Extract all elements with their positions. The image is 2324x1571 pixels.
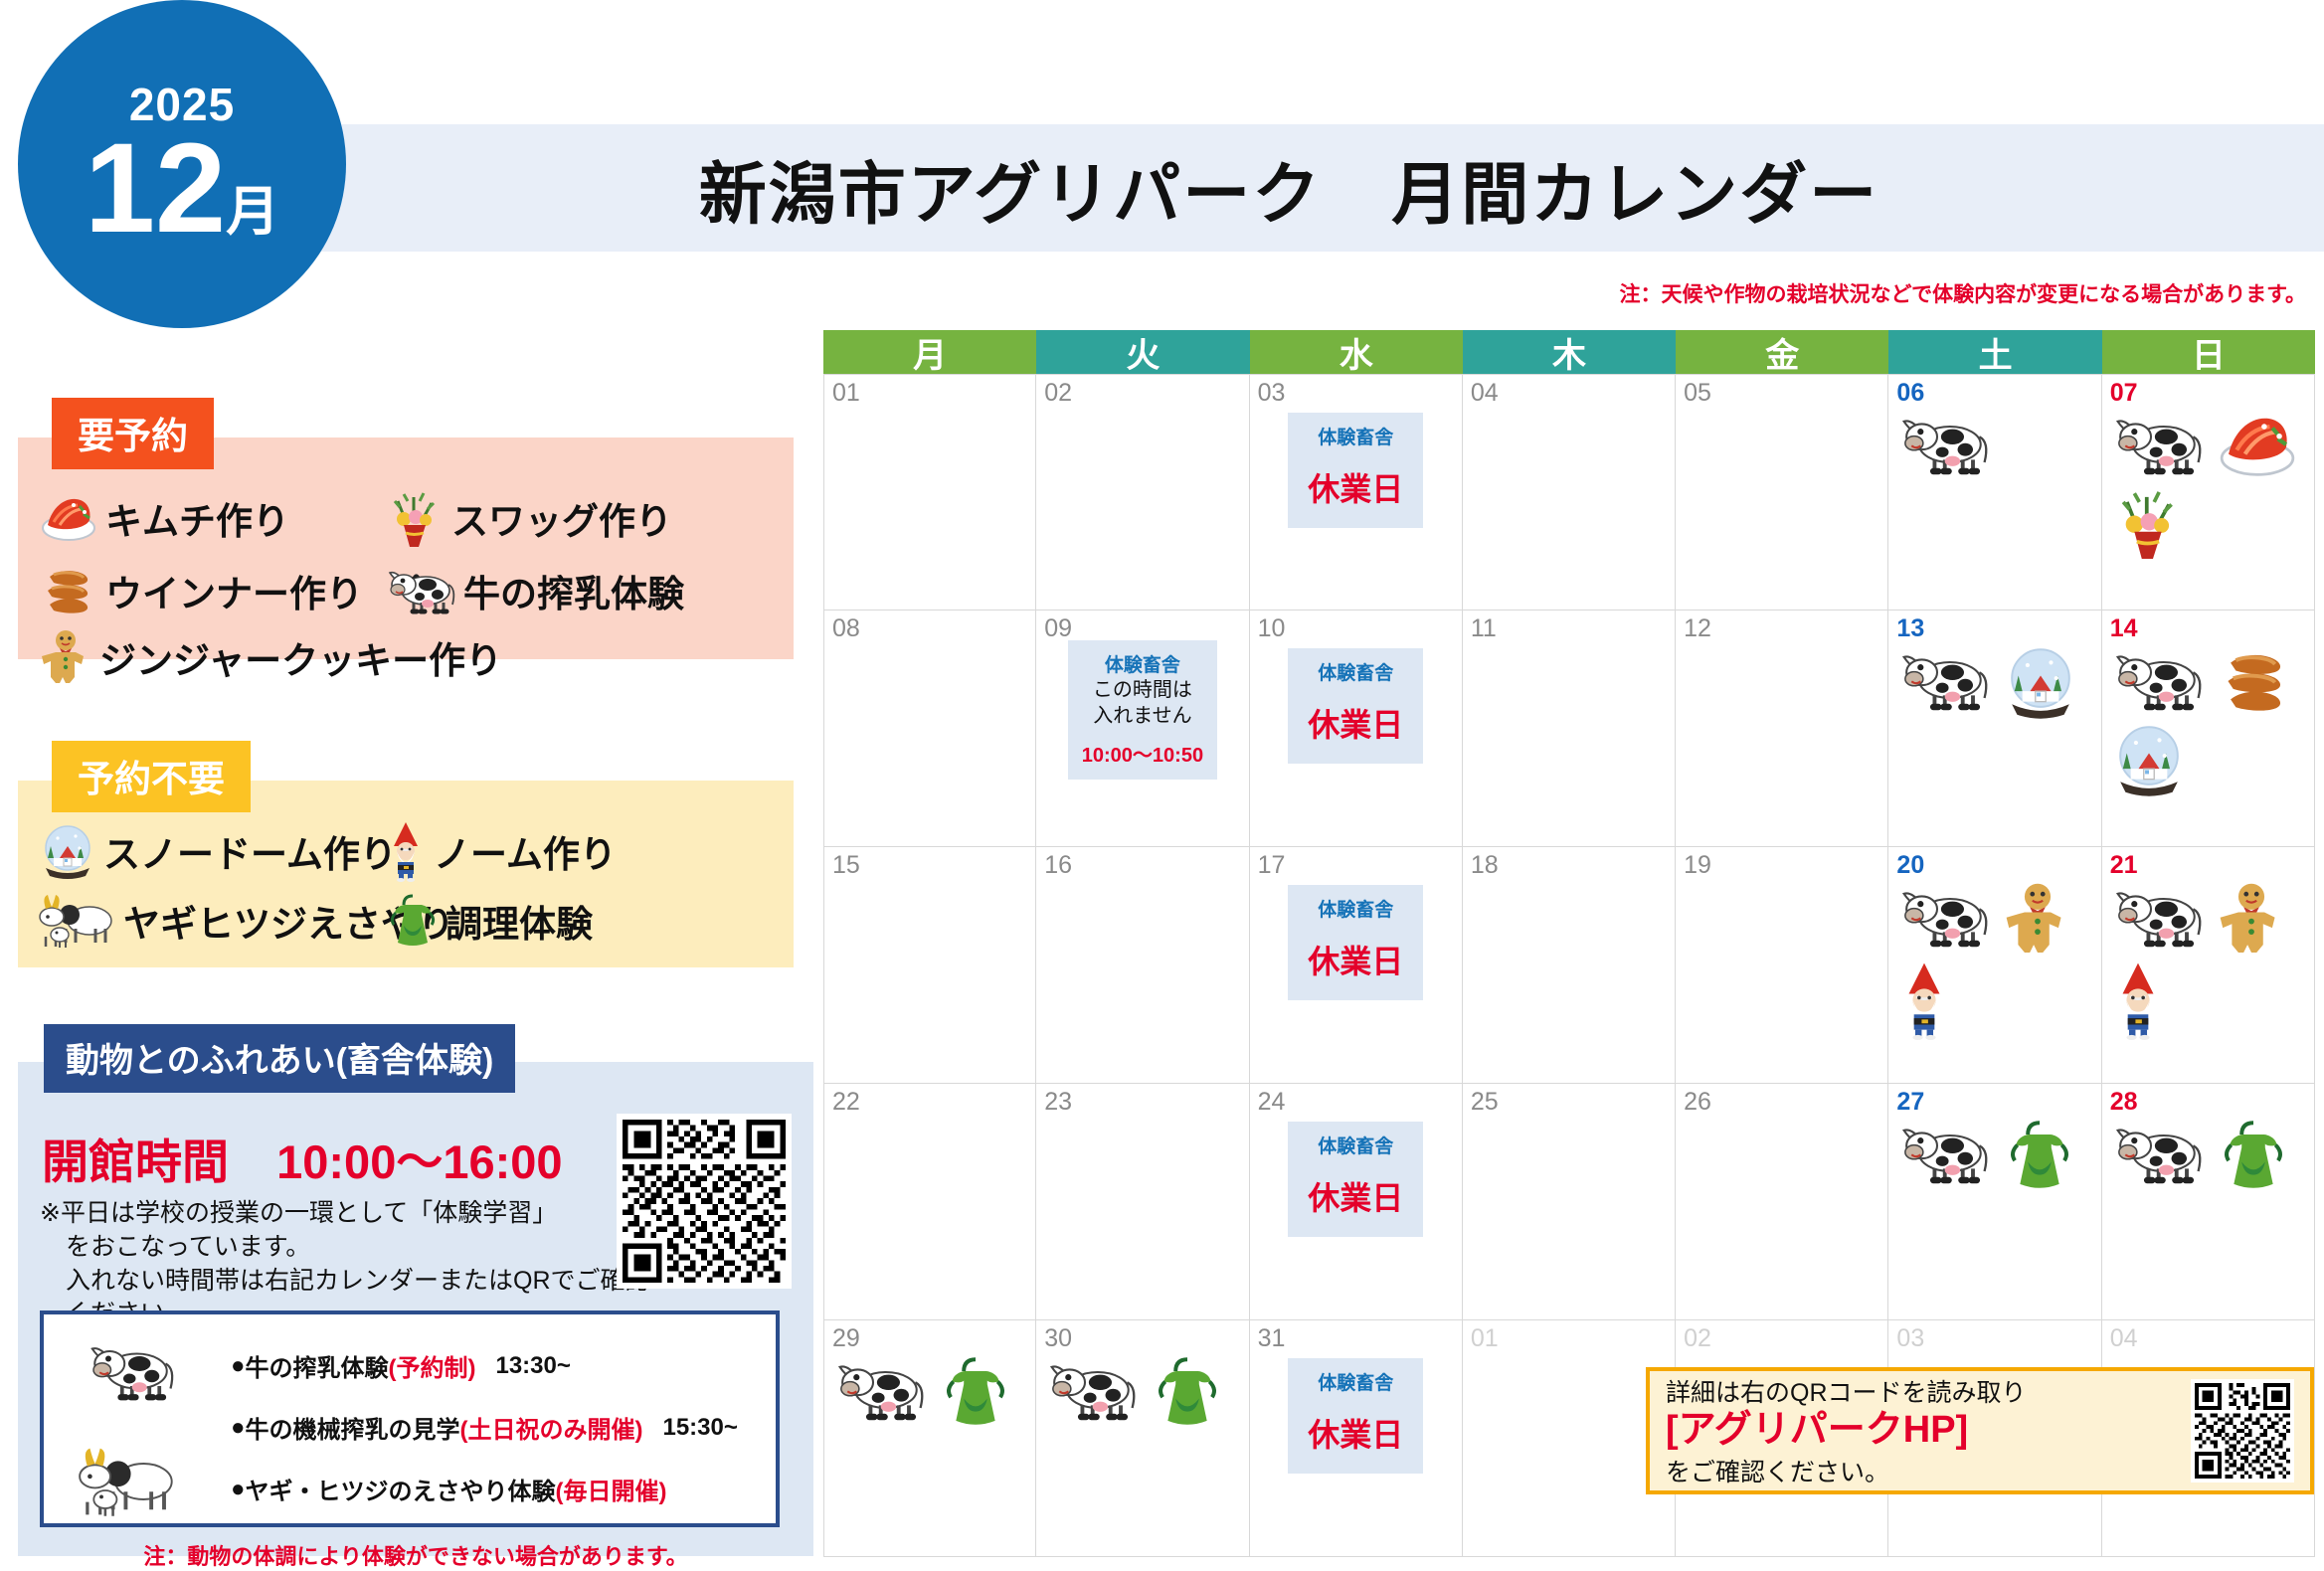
calendar-day-cell[interactable]: 29 [823,1320,1036,1557]
animal-condition-note: 注：動物の体調により体験ができない場合があります。 [18,1539,813,1571]
legend-reservation-required: 要予約 キムチ作り スワッグ作り ウインナー作り [18,398,794,659]
day-activity-icons [2112,881,2315,1040]
legend-no-reservation: 予約不要 スノードーム作り ノーム作り ヤギヒツジえさやり [18,741,794,967]
day-number: 18 [1471,851,1499,880]
animal-activity-card: ● 牛の搾乳体験 (予約制) 13:30~ ● 牛の機械搾乳の見学 (土日祝のみ… [40,1310,780,1527]
time-restriction-badge: 体験畜舎この時間は入れません10:00〜10:50 [1068,640,1217,780]
gingerbread-icon [2004,881,2071,957]
detail-tag: (毎日開催) [556,1472,667,1506]
animal-section-tab: 動物とのふれあい(畜舎体験) [44,1024,515,1093]
day-number: 21 [2110,851,2138,880]
closure-facility-label: 体験畜舎 [1288,427,1423,450]
closure-status-label: 休業日 [1288,937,1423,982]
sausage-icon [40,563,97,618]
calendar-day-cell[interactable]: 01 [823,374,1036,611]
calendar-day-cell[interactable]: 08 [823,611,1036,847]
kimchi-icon [2218,409,2297,480]
detail-row-feeding: ● ヤギ・ヒツジのえさやり体験 (毎日開催) [231,1472,666,1506]
day-activity-icons [1898,881,2101,1040]
calendar-weekday-header: 木 [1463,330,1676,374]
detail-label: ヤギ・ヒツジのえさやり体験 [246,1472,556,1506]
day-number: 17 [1258,851,1286,880]
legend-item-label: 牛の搾乳体験 [463,564,684,617]
calendar-day-cell[interactable]: 21 [2102,847,2315,1084]
calendar-weekday-header: 水 [1250,330,1463,374]
calendar-header-row: 月火水木金土日 [823,330,2315,374]
gingerbread-icon [40,628,91,686]
legend-item-label: ジンジャークッキー作り [99,630,502,684]
cow-icon [1898,644,1994,716]
day-number: 31 [1258,1324,1286,1353]
animal-interaction-section: 動物とのふれあい(畜舎体験) 開館時間 10:00〜16:00 ※平日は学校の授… [18,1024,813,1556]
weather-disclaimer-note: 注：天候や作物の栽培状況などで体験内容が変更になる場合があります。 [1620,278,2306,308]
day-number: 20 [1896,851,1924,880]
closure-badge: 体験畜舎休業日 [1288,413,1423,528]
day-activity-icons [2112,1118,2315,1193]
closure-facility-label: 体験畜舎 [1288,662,1423,686]
snowglobe-icon [40,822,95,880]
day-number: 05 [1684,379,1711,408]
calendar-weekday-header: 月 [823,330,1036,374]
closure-status-label: 休業日 [1288,464,1423,510]
page-title: 新潟市アグリパーク 月間カレンダー [254,124,2324,252]
calendar-day-cell[interactable]: 01 [1463,1320,1676,1557]
calendar-weekday-header: 土 [1888,330,2101,374]
legend-item-cooking: 調理体験 [386,892,593,950]
swag-bouquet-icon [2112,484,2184,562]
calendar-day-cell[interactable]: 07 [2102,374,2315,611]
legend-item-milking: 牛の搾乳体験 [386,563,684,618]
qr-code-icon[interactable] [617,1114,792,1289]
legend-item-label: ウインナー作り [105,564,363,617]
animal-section-body: 開館時間 10:00〜16:00 ※平日は学校の授業の一環として「体験学習」 を… [18,1062,813,1556]
closure-badge: 体験畜舎休業日 [1288,1122,1423,1237]
calendar-day-cell[interactable]: 27 [1888,1084,2101,1320]
opening-hours-value: 10:00〜16:00 [276,1135,562,1188]
day-number: 23 [1044,1088,1072,1117]
legend-reservation-body: キムチ作り スワッグ作り ウインナー作り 牛の搾乳体験 [18,437,794,659]
calendar-day-cell[interactable]: 22 [823,1084,1036,1320]
cow-icon [1898,409,1994,480]
day-activity-icons [1898,409,2101,480]
day-number: 01 [832,379,860,408]
closure-status-label: 休業日 [1288,1410,1423,1456]
kimchi-icon [40,492,97,544]
calendar-day-cell[interactable]: 15 [823,847,1036,1084]
closure-badge: 体験畜舎休業日 [1288,885,1423,1000]
opening-hours: 開館時間 10:00〜16:00 [42,1124,563,1192]
calendar-day-cell[interactable]: 18 [1463,847,1676,1084]
calendar-day-cell[interactable]: 28 [2102,1084,2315,1320]
closure-facility-label: 体験畜舎 [1288,1135,1423,1159]
snowglobe-icon [2112,722,2186,797]
calendar-day-cell[interactable]: 12 [1676,611,1888,847]
day-number: 26 [1684,1088,1711,1117]
day-number: 24 [1258,1088,1286,1117]
day-number: 25 [1471,1088,1499,1117]
calendar-day-cell[interactable]: 04 [1463,374,1676,611]
cow-icon [1898,1118,1994,1189]
day-number: 11 [1471,614,1497,643]
detail-row-milking: ● 牛の搾乳体験 (予約制) 13:30~ [231,1348,571,1383]
qr-note-line-1: 詳細は右のQRコードを読み取り [1666,1373,2191,1409]
calendar-day-cell[interactable]: 26 [1676,1084,1888,1320]
closure-badge: 体験畜舎休業日 [1288,648,1423,764]
cow-icon [834,1354,930,1426]
calendar-day-cell[interactable]: 09体験畜舎この時間は入れません10:00〜10:50 [1036,611,1249,847]
closure-status-label: 休業日 [1288,700,1423,746]
day-number: 16 [1044,851,1072,880]
badge-month-unit: 月 [226,188,279,237]
detail-bullet: ● [231,1476,246,1503]
cow-icon [1898,881,1994,953]
day-number: 22 [832,1088,860,1117]
cow-icon [386,563,459,618]
day-number: 29 [832,1324,860,1353]
day-number: 15 [832,851,860,880]
badge-month-wrap: 12 月 [85,131,279,246]
day-activity-icons [1898,1118,2101,1193]
day-number: 03 [1896,1324,1924,1353]
calendar-day-cell[interactable]: 16 [1036,847,1249,1084]
cow-icon [2112,1118,2208,1189]
calendar-day-cell[interactable]: 02 [1036,374,1249,611]
detail-row-machine-milking: ● 牛の機械搾乳の見学 (土日祝のみ開催) 15:30~ [231,1410,738,1445]
calendar-day-cell[interactable]: 06 [1888,374,2101,611]
month-badge: 2025 12 月 [18,0,346,328]
gnome-icon [386,820,426,882]
day-activity-icons [2112,644,2315,797]
restriction-text-line-2: 入れません [1068,703,1217,729]
goat-sheep-icon [74,1446,183,1517]
day-number: 01 [1471,1324,1499,1353]
calendar-day-cell[interactable]: 20 [1888,847,2101,1084]
legend-item-gnome: ノーム作り [386,820,617,882]
day-number: 04 [2110,1324,2138,1353]
day-activity-icons [834,1354,1036,1430]
day-activity-icons [2112,409,2315,562]
legend-item-swag: スワッグ作り [386,487,672,549]
qr-note-line-3: をご確認ください。 [1666,1453,2191,1488]
calendar-day-cell[interactable]: 14 [2102,611,2315,847]
gnome-icon [1898,960,1950,1040]
day-number: 02 [1044,379,1072,408]
legend-item-gingerbread: ジンジャークッキー作り [40,628,502,686]
snowglobe-icon [2004,644,2077,720]
cow-icon [1046,1354,1142,1426]
day-number: 10 [1258,614,1286,643]
restriction-time: 10:00〜10:50 [1068,739,1217,768]
day-number: 27 [1896,1088,1924,1117]
gnome-icon [2112,960,2164,1040]
calendar-day-cell[interactable]: 31体験畜舎休業日 [1250,1320,1463,1557]
detail-bullet: ● [231,1352,246,1380]
day-activity-icons [1046,1354,1249,1430]
calendar-day-cell[interactable]: 11 [1463,611,1676,847]
closure-facility-label: 体験畜舎 [1288,899,1423,923]
calendar-day-cell[interactable]: 05 [1676,374,1888,611]
day-number: 19 [1684,851,1711,880]
day-activity-icons [1898,644,2101,720]
detail-time: 13:30~ [495,1352,570,1380]
cow-icon [2112,881,2208,953]
qr-note-line-2: [アグリパークHP] [1666,1409,2191,1453]
detail-goat-sheep-icon-wrap [74,1446,183,1522]
day-number: 06 [1896,379,1924,408]
legend-item-label: 調理体験 [446,894,593,948]
day-number: 12 [1684,614,1711,643]
calendar-day-cell[interactable]: 30 [1036,1320,1249,1557]
calendar-day-cell[interactable]: 10体験畜舎休業日 [1250,611,1463,847]
cow-icon [2112,644,2208,716]
note-line-2: をおこなっています。 [40,1231,666,1265]
day-number: 03 [1258,379,1286,408]
legend-reservation-tab: 要予約 [52,398,214,469]
day-number: 13 [1896,614,1924,643]
day-number: 07 [2110,379,2138,408]
calendar-weekday-header: 火 [1036,330,1249,374]
closure-badge: 体験畜舎休業日 [1288,1358,1423,1474]
legend-item-label: スワッグ作り [451,491,672,545]
detail-cow-icon-wrap [86,1336,181,1411]
day-number: 04 [1471,379,1499,408]
calendar-day-cell[interactable]: 23 [1036,1084,1249,1320]
calendar-day-cell[interactable]: 25 [1463,1084,1676,1320]
goat-sheep-icon [36,893,119,949]
legend-item-feeding: ヤギヒツジえさやり [36,893,386,949]
apron-icon [2004,1118,2075,1193]
closure-status-label: 休業日 [1288,1173,1423,1219]
apron-icon [1152,1354,1223,1430]
day-number: 30 [1044,1324,1072,1353]
sausage-icon [2218,644,2293,718]
apron-icon [2218,1118,2289,1193]
day-number: 02 [1684,1324,1711,1353]
detail-tag: (土日祝のみ開催) [460,1410,643,1445]
day-number: 09 [1044,614,1072,643]
qr-code-icon[interactable] [2191,1379,2294,1483]
legend-item-label: キムチ作り [105,491,289,545]
opening-hours-label: 開館時間 [42,1135,229,1188]
detail-tag: (予約制) [389,1348,476,1383]
closure-facility-label: 体験畜舎 [1288,1372,1423,1396]
restriction-facility-label: 体験畜舎 [1068,650,1217,677]
legend-free-tab: 予約不要 [52,741,251,812]
calendar-day-cell[interactable]: 13 [1888,611,2101,847]
calendar-day-cell[interactable]: 19 [1676,847,1888,1084]
calendar-weekday-header: 日 [2102,330,2315,374]
legend-item-label: ノーム作り [434,824,617,878]
day-number: 28 [2110,1088,2138,1117]
detail-bullet: ● [231,1414,246,1442]
detail-label: 牛の搾乳体験 [246,1348,389,1383]
badge-month: 12 [85,131,226,246]
note-line-1: ※平日は学校の授業の一環として「体験学習」 [40,1197,666,1231]
detail-time: 15:30~ [662,1414,737,1442]
header-banner: 新潟市アグリパーク 月間カレンダー [254,124,2324,252]
gingerbread-icon [2218,881,2285,957]
calendar-day-cell[interactable]: 17体験畜舎休業日 [1250,847,1463,1084]
day-number: 14 [2110,614,2138,643]
legend-item-sausage: ウインナー作り [40,563,386,618]
cow-icon [86,1336,181,1406]
day-number: 08 [832,614,860,643]
swag-bouquet-icon [386,487,444,549]
legend-item-snowglobe: スノードーム作り [40,822,386,880]
restriction-text-line-1: この時間は [1068,677,1217,703]
calendar-weekday-header: 金 [1676,330,1888,374]
calendar-day-cell[interactable]: 24体験畜舎休業日 [1250,1084,1463,1320]
cow-icon [2112,409,2208,480]
apron-icon [940,1354,1011,1430]
apron-icon [386,892,440,950]
calendar-day-cell[interactable]: 03体験畜舎休業日 [1250,374,1463,611]
qr-note-text: 詳細は右のQRコードを読み取り [アグリパークHP] をご確認ください。 [1666,1373,2191,1488]
qr-detail-note-box[interactable]: 詳細は右のQRコードを読み取り [アグリパークHP] をご確認ください。 [1646,1367,2314,1494]
legend-item-kimchi: キムチ作り [40,491,386,545]
legend-item-label: スノードーム作り [103,824,397,878]
detail-label: 牛の機械搾乳の見学 [246,1410,460,1445]
